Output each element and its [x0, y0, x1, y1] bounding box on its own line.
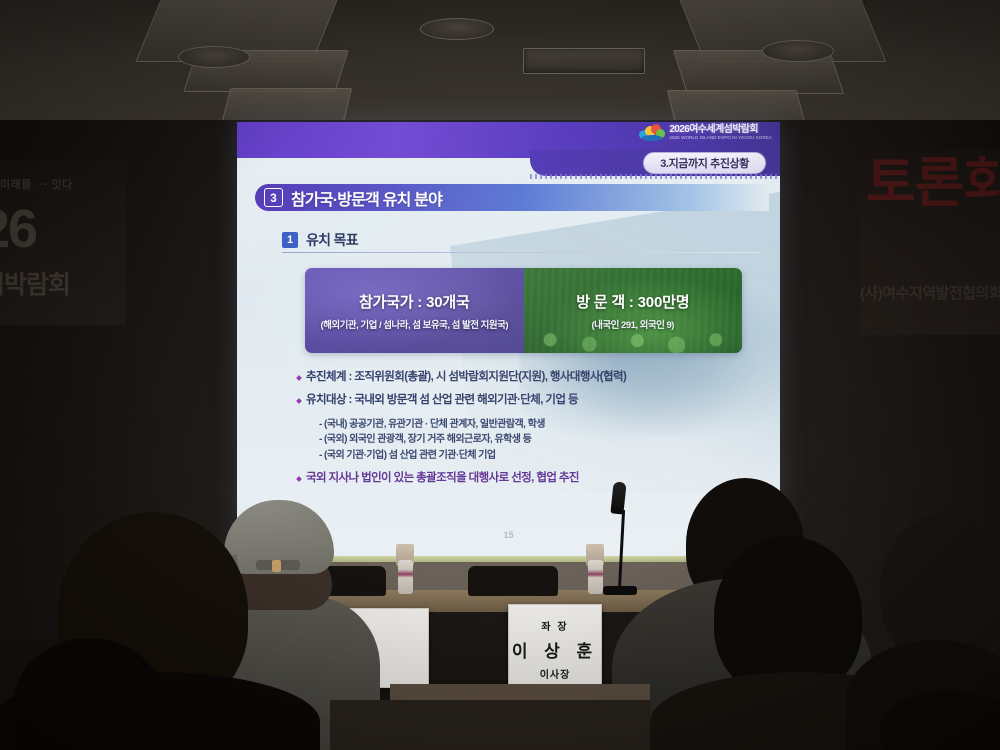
- screenshot-root: 미래를 ··· 잇다 26 섬박람회 토론회 (사)여수지역발전협의회: [0, 0, 1000, 750]
- subsection-heading: 1 유치 목표: [282, 230, 760, 250]
- audience-table: [390, 684, 650, 700]
- bullet-diamond-icon: [296, 476, 302, 482]
- bullet-sub-item: - (국외 기관·기업) 섬 산업 관련 기관·단체 기업: [319, 448, 767, 464]
- bullet-diamond-icon: [296, 375, 302, 381]
- highlight-box-participating-countries: 참가국가 : 30개국 (해외기관, 기업 / 섬나라, 섬 보유국, 섬 발전…: [305, 268, 524, 353]
- expo-mark-icon: [639, 124, 665, 141]
- bullet-sub-list: - (국내) 공공기관, 유관기관 · 단체 관계자, 일반관람객, 학생 - …: [319, 417, 767, 464]
- ceiling-vent: [523, 48, 645, 74]
- slide-page-number: 15: [503, 530, 513, 540]
- subsection-number: 1: [282, 232, 298, 248]
- projection-screen: 2026여수세계섬박람회 2026 WORLD ISLAND EXPO IN Y…: [237, 122, 780, 562]
- highlight-box-visitors: 방 문 객 : 300만명 (내국인 291, 외국인 9): [524, 268, 743, 353]
- section-number: 3: [264, 188, 283, 207]
- bullet-text: 국외 지사나 법인이 있는 총괄조직을 대행사로 선정, 협업 추진: [306, 471, 579, 485]
- expo-logo: 2026여수세계섬박람회 2026 WORLD ISLAND EXPO IN Y…: [639, 124, 772, 141]
- nameplate-name: 이 상 훈: [512, 637, 598, 662]
- chair: [468, 566, 558, 596]
- slide-canvas: 2026여수세계섬박람회 2026 WORLD ISLAND EXPO IN Y…: [237, 122, 780, 562]
- water-bottle: [398, 560, 413, 594]
- box-sub-text: (해외기관, 기업 / 섬나라, 섬 보유국, 섬 발전 지원국): [320, 317, 508, 331]
- highlight-boxes: 참가국가 : 30개국 (해외기관, 기업 / 섬나라, 섬 보유국, 섬 발전…: [305, 268, 742, 353]
- section-title-text: 참가국·방문객 유치 분야: [291, 186, 442, 210]
- expo-logo-subtitle: 2026 WORLD ISLAND EXPO IN YEOSU KOREA: [669, 135, 772, 140]
- banner-right-organizer: (사)여수지역발전협의회: [860, 282, 1000, 303]
- audience-table-front: [330, 700, 650, 750]
- banner-right: 토론회 (사)여수지역발전협의회: [860, 150, 1000, 335]
- ceiling-speaker: [178, 46, 250, 68]
- bullet-item-final: 국외 지사나 법인이 있는 총괄조직을 대행사로 선정, 협업 추진: [297, 471, 767, 485]
- subsection-divider: [282, 252, 760, 253]
- bullet-sub-item: - (국외) 외국인 관광객, 장기 거주 해외근로자, 유학생 등: [319, 432, 767, 448]
- subsection-title-text: 유치 목표: [306, 230, 358, 250]
- bullet-text: 유치대상 : 국내외 방문객 섬 산업 관련 해외기관·단체, 기업 등: [306, 393, 578, 407]
- bullet-body: : 국내외 방문객 섬 산업 관련 해외기관·단체, 기업 등: [346, 394, 578, 406]
- bullet-label: 추진체계: [306, 371, 346, 383]
- nameplate-role: 좌 장: [541, 618, 568, 633]
- microphone-base: [603, 586, 637, 595]
- bullet-item: 추진체계 : 조직위원회(총괄), 시 섬박람회지원단(지원), 행사대행사(협…: [297, 370, 767, 384]
- expo-logo-title: 2026여수세계섬박람회: [669, 125, 772, 136]
- bullet-text: 추진체계 : 조직위원회(총괄), 시 섬박람회지원단(지원), 행사대행사(협…: [306, 370, 626, 384]
- box-sub-text: (내국인 291, 외국인 9): [592, 317, 674, 331]
- slide-header-tab: 3.지금까지 추진상황: [643, 152, 766, 174]
- bullet-body: : 조직위원회(총괄), 시 섬박람회지원단(지원), 행사대행사(협력): [346, 371, 626, 383]
- banner-left-year: 26: [0, 202, 36, 256]
- bullet-sub-item: - (국내) 공공기관, 유관기관 · 단체 관계자, 일반관람객, 학생: [319, 417, 767, 433]
- ceiling-speaker: [420, 18, 494, 40]
- box-main-text: 방 문 객 : 300만명: [576, 291, 689, 312]
- banner-left-name: 섬박람회: [0, 265, 70, 301]
- water-bottle: [588, 560, 603, 594]
- nameplate-title: 이사장: [540, 666, 571, 681]
- banner-left-tagline: 미래를 ··· 잇다: [0, 176, 73, 192]
- box-main-text: 참가국가 : 30개국: [359, 291, 470, 312]
- banner-right-title: 토론회: [866, 156, 1000, 210]
- bullet-diamond-icon: [296, 399, 302, 405]
- banner-left: 미래를 ··· 잇다 26 섬박람회: [0, 160, 126, 325]
- slide-header-dot-rule: [530, 174, 780, 179]
- bullet-label: 유치대상: [306, 394, 346, 406]
- nameplate-chair: 좌 장 이 상 훈 이사장: [508, 604, 602, 694]
- bullet-list: 추진체계 : 조직위원회(총괄), 시 섬박람회지원단(지원), 행사대행사(협…: [297, 370, 767, 495]
- section-title-bar: 3 참가국·방문객 유치 분야: [255, 184, 769, 211]
- bullet-item: 유치대상 : 국내외 방문객 섬 산업 관련 해외기관·단체, 기업 등: [297, 393, 767, 407]
- ceiling-speaker: [762, 40, 834, 62]
- baseball-cap-buckle: [272, 560, 281, 572]
